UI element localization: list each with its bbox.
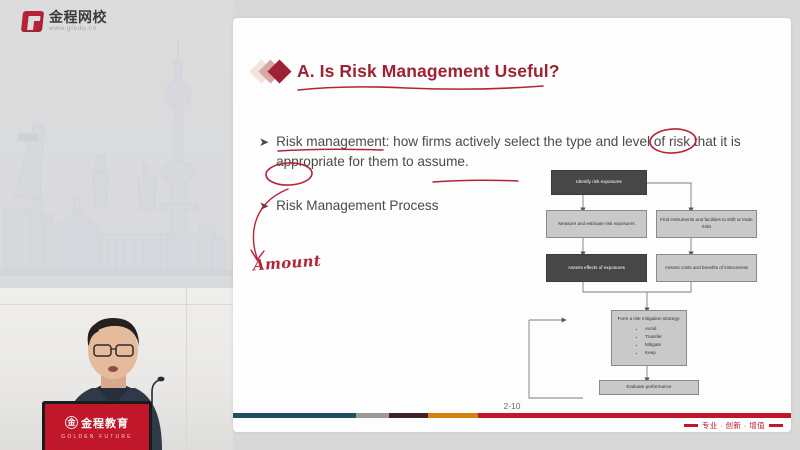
laptop-brand-cn: 金程教育 — [81, 415, 129, 431]
laptop-brand-panel: 金 金程教育 GOLDEN FUTURE — [42, 401, 152, 450]
flowchart-box-identify: Identify risk exposures — [551, 170, 647, 195]
slide-panel: A. Is Risk Management Useful? ➤ Risk man… — [233, 18, 791, 432]
flowchart-strategy-options: Avoid Transfer Mitigate Keep — [636, 325, 662, 357]
laptop-seal-icon: 金 — [65, 416, 78, 429]
flowchart-box-assess-effects: Assess effects of exposures — [546, 254, 647, 282]
flowchart-box-find-instruments: Find instruments and facilities to shift… — [656, 210, 757, 238]
flowchart-box-form-strategy: Form a risk mitigation strategy: Avoid T… — [611, 310, 687, 366]
arrow-bullet-icon: ➤ — [259, 200, 269, 212]
brand-name: 金程网校 — [49, 10, 107, 24]
bullet-text-2: Risk Management Process — [276, 196, 438, 216]
left-branding-panel: 金程网校 www.gfedu.cn — [0, 0, 233, 450]
brand-url: www.gfedu.cn — [49, 26, 107, 33]
bar-segment — [478, 413, 790, 418]
bar-segment — [428, 413, 478, 418]
bar-segment — [233, 413, 356, 418]
slogan-text: 专业 · 创新 · 增值 — [702, 420, 765, 431]
bullet-item-1: ➤ Risk management: how firms actively se… — [259, 132, 769, 171]
flowchart-box-measure: Measure and estimate risk exposures — [546, 210, 647, 238]
footer-slogan: 专业 · 创新 · 增值 — [684, 420, 783, 431]
gfedu-logo-icon — [21, 11, 44, 32]
diamond-bullet-icon — [253, 58, 297, 84]
flowchart-box-evaluate: Evaluate performance — [599, 380, 699, 395]
slogan-dash-right — [769, 424, 783, 427]
flowchart-box-assess-costs: Assess costs and benefits of instruments — [656, 254, 757, 282]
brand-logo: 金程网校 www.gfedu.cn — [22, 10, 107, 33]
handwritten-annotation: Amount — [252, 252, 321, 275]
laptop-brand-en: GOLDEN FUTURE — [61, 434, 132, 440]
bar-segment — [356, 413, 389, 418]
title-underline-ink — [296, 84, 546, 94]
bullet-item-2: ➤ Risk Management Process — [259, 196, 439, 216]
slide-bottom-bar — [233, 413, 791, 418]
bar-segment — [389, 413, 428, 418]
risk-management-process-flowchart — [521, 170, 773, 415]
page-title: A. Is Risk Management Useful? — [297, 61, 560, 82]
arrow-bullet-icon: ➤ — [259, 136, 269, 148]
slogan-dash-left — [684, 424, 698, 427]
bullet-text-1: Risk management: how firms actively sele… — [276, 132, 769, 171]
presenter-video[interactable]: 金 金程教育 GOLDEN FUTURE — [0, 288, 233, 450]
page-number: 2-10 — [233, 401, 791, 411]
skyline-watermark — [0, 38, 233, 290]
slide-title-row: A. Is Risk Management Useful? — [253, 58, 560, 84]
